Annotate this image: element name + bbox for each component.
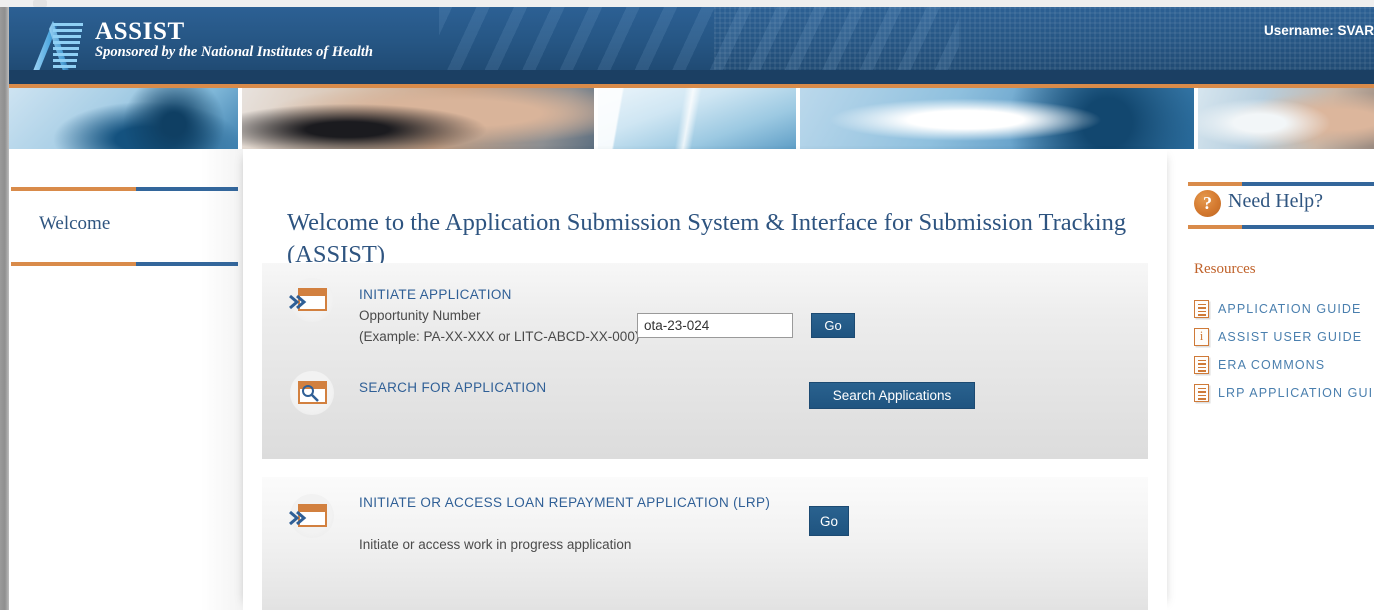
- need-help-link[interactable]: Need Help?: [1228, 190, 1323, 213]
- double-chevron-icon: [289, 510, 309, 526]
- help-rule-bottom: [1188, 225, 1374, 229]
- resources-title: Resources: [1194, 261, 1256, 278]
- lrp-heading: INITIATE OR ACCESS LOAN REPAYMENT APPLIC…: [359, 495, 770, 510]
- document-lines-icon: [1194, 356, 1209, 374]
- brand-title: ASSIST: [95, 18, 185, 46]
- masthead-bottom-band: [9, 70, 1374, 84]
- initiate-go-button[interactable]: Go: [811, 313, 855, 338]
- photo-banner: [9, 84, 1374, 149]
- masthead: ASSIST Sponsored by the National Institu…: [9, 7, 1374, 84]
- banner-orange-rule: [9, 84, 1374, 88]
- brand-subtitle: Sponsored by the National Institutes of …: [95, 44, 373, 61]
- document-lines-icon: [1194, 300, 1209, 318]
- resource-link-assist-user-guide[interactable]: ASSIST USER GUIDE: [1194, 326, 1362, 348]
- resource-link-application-guide[interactable]: APPLICATION GUIDE: [1194, 298, 1362, 320]
- search-application-row: SEARCH FOR APPLICATION Search Applicatio…: [262, 363, 1148, 459]
- search-application-icon: [290, 371, 334, 415]
- initiate-application-row: INITIATE APPLICATION Opportunity Number …: [262, 263, 1148, 363]
- initiate-application-icon: [290, 278, 334, 322]
- left-nav-rule-bottom: [11, 262, 238, 266]
- banner-photo-glassware: [598, 84, 797, 149]
- username-label: Username: SVAR: [1264, 23, 1374, 38]
- page-title: Welcome to the Application Submission Sy…: [287, 207, 1127, 271]
- lrp-description: Initiate or access work in progress appl…: [359, 537, 631, 552]
- resource-link-lrp-application-guide[interactable]: LRP APPLICATION GUIDE: [1194, 382, 1374, 404]
- left-nav-rule-top: [11, 187, 238, 191]
- opportunity-number-label: Opportunity Number: [359, 308, 481, 323]
- question-mark-icon: ?: [1194, 190, 1221, 217]
- sidebar-item-welcome[interactable]: Welcome: [39, 213, 110, 235]
- banner-photo-microscope: [9, 84, 238, 149]
- right-sidebar: ? Need Help? Resources APPLICATION GUIDE…: [1188, 149, 1374, 610]
- resource-label: ASSIST USER GUIDE: [1218, 330, 1362, 344]
- browser-tab-sliver: [33, 0, 47, 7]
- initiate-application-heading: INITIATE APPLICATION: [359, 287, 512, 302]
- banner-photo-flask: [800, 84, 1194, 149]
- lrp-panel: INITIATE OR ACCESS LOAN REPAYMENT APPLIC…: [262, 477, 1148, 610]
- search-application-heading: SEARCH FOR APPLICATION: [359, 380, 547, 395]
- page-body: Welcome Welcome to the Application Submi…: [9, 149, 1374, 610]
- banner-photo-lab-hands: [1198, 84, 1374, 149]
- resource-label: LRP APPLICATION GUIDE: [1218, 386, 1374, 400]
- resource-label: ERA COMMONS: [1218, 358, 1325, 372]
- left-nav: Welcome: [9, 149, 243, 610]
- lrp-go-button[interactable]: Go: [809, 506, 849, 536]
- resource-link-era-commons[interactable]: ERA COMMONS: [1194, 354, 1325, 376]
- opportunity-number-example: (Example: PA-XX-XXX or LITC-ABCD-XX-000): [359, 329, 639, 344]
- primary-actions-panel: INITIATE APPLICATION Opportunity Number …: [262, 263, 1148, 459]
- help-rule-top: [1188, 182, 1374, 186]
- page-left-gutter: [0, 7, 9, 610]
- resource-label: APPLICATION GUIDE: [1218, 302, 1362, 316]
- banner-photo-hands-laptop: [242, 84, 594, 149]
- document-info-icon: [1194, 328, 1209, 346]
- magnifier-icon: [301, 384, 319, 402]
- assist-a-logo-icon: [25, 17, 93, 75]
- search-applications-button[interactable]: Search Applications: [809, 382, 975, 409]
- initiate-lrp-icon: [290, 494, 334, 538]
- document-lines-icon: [1194, 384, 1209, 402]
- main-content: Welcome to the Application Submission Sy…: [243, 149, 1167, 610]
- double-chevron-icon: [289, 294, 309, 310]
- opportunity-number-input[interactable]: [637, 313, 793, 338]
